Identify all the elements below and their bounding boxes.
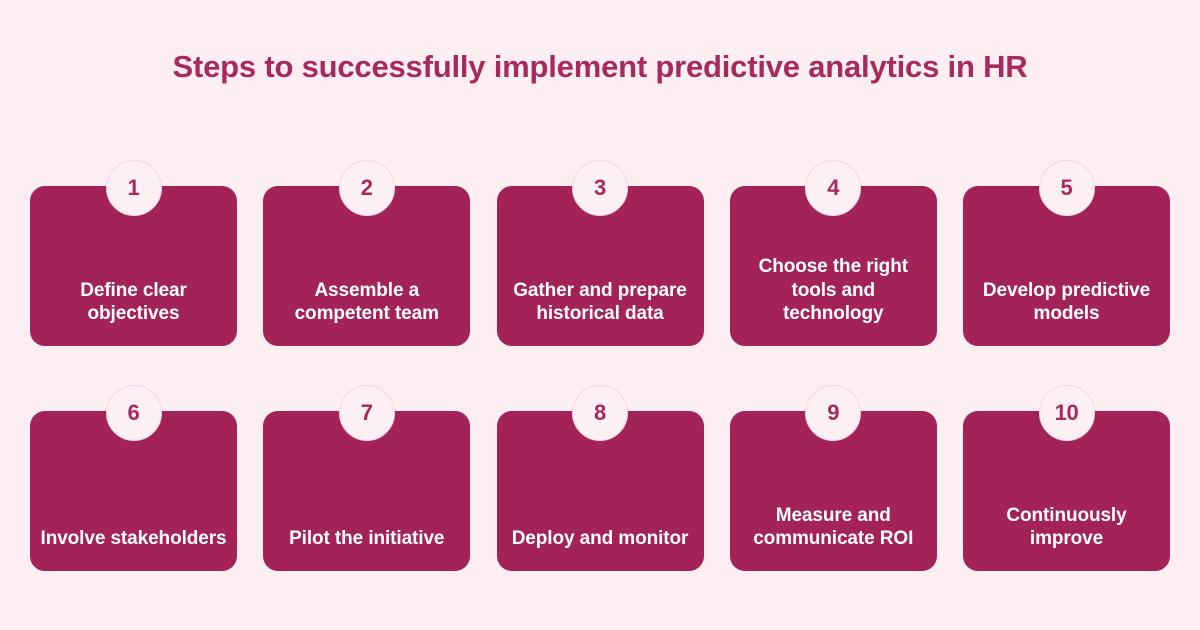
step-card-2[interactable]: 2 Assemble a competent team <box>263 160 470 385</box>
step-number-6: 6 <box>128 402 140 424</box>
step-number-2: 2 <box>361 177 373 199</box>
infographic-canvas: Steps to successfully implement predicti… <box>0 0 1200 630</box>
step-number-badge-7: 7 <box>339 385 395 441</box>
step-number-10: 10 <box>1055 402 1079 424</box>
step-label-1: Define clear objectives <box>40 279 227 327</box>
steps-row-2: 6 Involve stakeholders 7 Pilot the initi… <box>30 385 1170 610</box>
step-label-2: Assemble a competent team <box>273 279 460 327</box>
step-number-5: 5 <box>1061 177 1073 199</box>
step-card-9[interactable]: 9 Measure and communicate ROI <box>730 385 937 610</box>
steps-row-1: 1 Define clear objectives 2 Assemble a c… <box>30 160 1170 385</box>
step-label-3: Gather and prepare historical data <box>507 279 694 327</box>
step-label-6: Involve stakeholders <box>40 527 227 551</box>
step-number-badge-10: 10 <box>1039 385 1095 441</box>
step-number-badge-5: 5 <box>1039 160 1095 216</box>
step-card-3[interactable]: 3 Gather and prepare historical data <box>497 160 704 385</box>
step-number-badge-4: 4 <box>805 160 861 216</box>
title-container: Steps to successfully implement predicti… <box>0 48 1200 85</box>
step-number-7: 7 <box>361 402 373 424</box>
step-number-9: 9 <box>827 402 839 424</box>
step-card-6[interactable]: 6 Involve stakeholders <box>30 385 237 610</box>
page-title: Steps to successfully implement predicti… <box>173 48 1028 85</box>
step-number-badge-6: 6 <box>106 385 162 441</box>
step-label-9: Measure and communicate ROI <box>740 504 927 552</box>
step-label-4: Choose the right tools and technology <box>740 255 927 326</box>
step-number-badge-3: 3 <box>572 160 628 216</box>
step-label-10: Continuously improve <box>973 504 1160 552</box>
step-number-3: 3 <box>594 177 606 199</box>
step-number-badge-2: 2 <box>339 160 395 216</box>
step-number-badge-8: 8 <box>572 385 628 441</box>
step-number-1: 1 <box>128 177 140 199</box>
step-card-7[interactable]: 7 Pilot the initiative <box>263 385 470 610</box>
step-number-8: 8 <box>594 402 606 424</box>
step-label-7: Pilot the initiative <box>273 527 460 551</box>
step-card-8[interactable]: 8 Deploy and monitor <box>497 385 704 610</box>
step-card-10[interactable]: 10 Continuously improve <box>963 385 1170 610</box>
steps-grid: 1 Define clear objectives 2 Assemble a c… <box>30 160 1170 610</box>
step-number-badge-9: 9 <box>805 385 861 441</box>
step-card-1[interactable]: 1 Define clear objectives <box>30 160 237 385</box>
step-label-5: Develop predictive models <box>973 279 1160 327</box>
step-number-badge-1: 1 <box>106 160 162 216</box>
step-card-4[interactable]: 4 Choose the right tools and technology <box>730 160 937 385</box>
step-number-4: 4 <box>827 177 839 199</box>
step-label-8: Deploy and monitor <box>507 527 694 551</box>
step-card-5[interactable]: 5 Develop predictive models <box>963 160 1170 385</box>
